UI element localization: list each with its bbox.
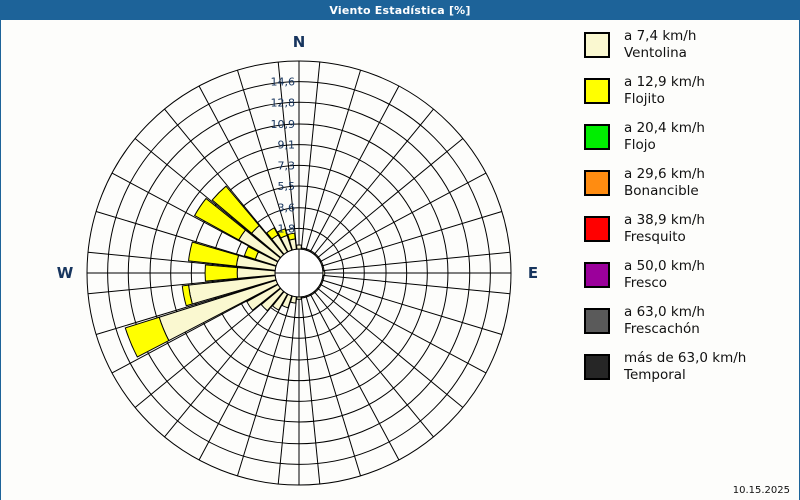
legend-item: más de 63,0 km/h Temporal [571, 350, 799, 392]
legend: a 7,4 km/h Ventolina a 12,9 km/h Flojito… [571, 20, 799, 500]
legend-item: a 7,4 km/h Ventolina [571, 28, 799, 70]
legend-name: Bonancible [624, 183, 705, 200]
window-content: 1,83,65,57,39,110,912,814,6 NSEW a 7,4 k… [1, 20, 799, 500]
windrose-plot-pane: 1,83,65,57,39,110,912,814,6 NSEW [1, 20, 571, 500]
radial-tick-label: 14,6 [271, 76, 296, 89]
radial-tick-label: 10,9 [271, 118, 296, 131]
legend-speed: a 20,4 km/h [624, 120, 705, 137]
windrose-grid [87, 61, 511, 485]
legend-name: Ventolina [624, 45, 696, 62]
legend-speed: a 38,9 km/h [624, 212, 705, 229]
legend-item: a 63,0 km/h Frescachón [571, 304, 799, 346]
legend-speed: a 29,6 km/h [624, 166, 705, 183]
radial-tick-label: 5,5 [278, 180, 296, 193]
legend-name: Flojo [624, 137, 705, 154]
compass-label-north: N [293, 33, 306, 51]
legend-swatch-temporal [584, 354, 610, 380]
legend-item: a 38,9 km/h Fresquito [571, 212, 799, 254]
legend-item: a 20,4 km/h Flojo [571, 120, 799, 162]
legend-speed: más de 63,0 km/h [624, 350, 746, 367]
windrose-chart: 1,83,65,57,39,110,912,814,6 NSEW [1, 20, 571, 500]
legend-item: a 12,9 km/h Flojito [571, 74, 799, 116]
legend-name: Fresco [624, 275, 705, 292]
window: Viento Estadística [%] 1,83,65,57,39,110… [0, 0, 800, 500]
legend-item: a 50,0 km/h Fresco [571, 258, 799, 300]
legend-speed: a 12,9 km/h [624, 74, 705, 91]
windrose-radial-ticks: 1,83,65,57,39,110,912,814,6 [271, 76, 296, 236]
radial-tick-label: 12,8 [271, 96, 296, 109]
legend-speed: a 7,4 km/h [624, 28, 696, 45]
legend-swatch-fresco [584, 262, 610, 288]
legend-speed: a 50,0 km/h [624, 258, 705, 275]
date-stamp: 10.15.2025 [733, 485, 790, 496]
compass-label-east: E [528, 264, 538, 282]
radial-tick-label: 9,1 [278, 139, 296, 152]
legend-swatch-fresquito [584, 216, 610, 242]
legend-name: Temporal [624, 367, 746, 384]
compass-label-west: W [57, 264, 74, 282]
legend-name: Flojito [624, 91, 705, 108]
radial-tick-label: 7,3 [278, 159, 296, 172]
radial-tick-label: 3,6 [278, 202, 296, 215]
legend-name: Fresquito [624, 229, 705, 246]
legend-swatch-flojo [584, 124, 610, 150]
legend-swatch-ventolina [584, 32, 610, 58]
window-titlebar: Viento Estadística [%] [1, 1, 799, 20]
legend-speed: a 63,0 km/h [624, 304, 705, 321]
legend-name: Frescachón [624, 321, 705, 338]
legend-swatch-flojito [584, 78, 610, 104]
legend-swatch-frescachon [584, 308, 610, 334]
radial-tick-label: 1,8 [278, 222, 296, 235]
legend-swatch-bonancible [584, 170, 610, 196]
window-title: Viento Estadística [%] [329, 4, 470, 17]
legend-item: a 29,6 km/h Bonancible [571, 166, 799, 208]
